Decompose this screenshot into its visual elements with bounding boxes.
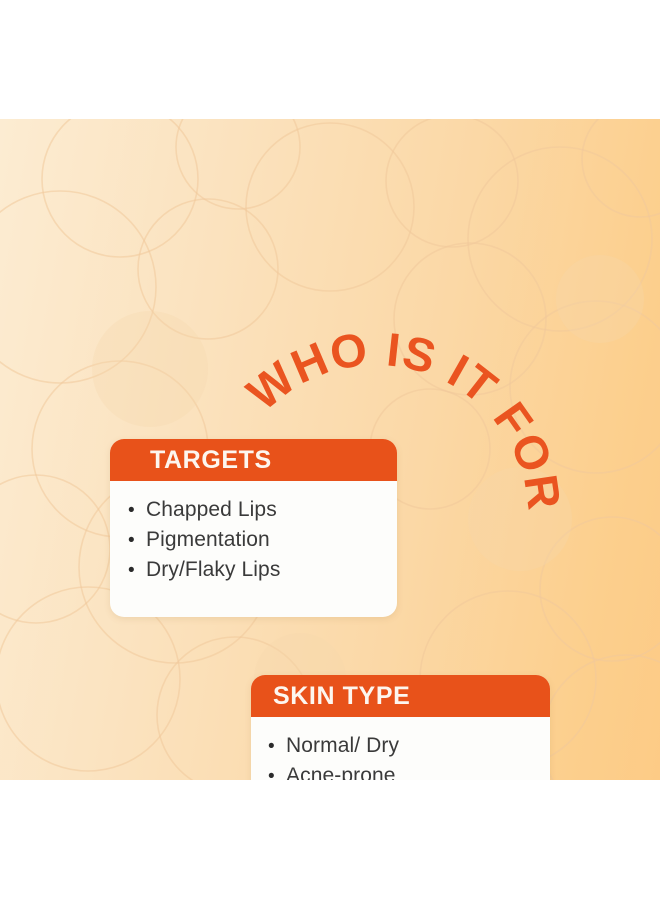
bullet-icon: • [128, 561, 146, 580]
list-item: • Normal/ Dry [268, 735, 550, 756]
list-item-label: Pigmentation [146, 529, 270, 550]
card-targets-header: TARGETS [110, 439, 397, 481]
list-item-label: Dry/Flaky Lips [146, 559, 280, 580]
artwork-canvas: WHO IS IT FOR TARGETS • Chapped Lips • P… [0, 119, 660, 780]
card-skin-type-title: SKIN TYPE [273, 682, 410, 711]
card-skin-type-body: • Normal/ Dry • Acne-prone • Oily/ Combi… [251, 717, 550, 780]
bullet-icon: • [268, 767, 286, 780]
bullet-icon: • [128, 501, 146, 520]
list-item: • Dry/Flaky Lips [128, 559, 397, 580]
bullet-icon: • [268, 737, 286, 756]
card-skin-type: SKIN TYPE • Normal/ Dry • Acne-prone • O… [251, 675, 550, 780]
list-item: • Chapped Lips [128, 499, 397, 520]
bullet-icon: • [128, 531, 146, 550]
list-item-label: Chapped Lips [146, 499, 277, 520]
card-skin-type-header: SKIN TYPE [251, 675, 550, 717]
list-item-label: Acne-prone [286, 765, 396, 780]
card-targets: TARGETS • Chapped Lips • Pigmentation • … [110, 439, 397, 617]
card-targets-body: • Chapped Lips • Pigmentation • Dry/Flak… [110, 481, 397, 580]
list-item: • Acne-prone [268, 765, 550, 780]
card-targets-title: TARGETS [150, 446, 272, 475]
list-item: • Pigmentation [128, 529, 397, 550]
list-item-label: Normal/ Dry [286, 735, 399, 756]
